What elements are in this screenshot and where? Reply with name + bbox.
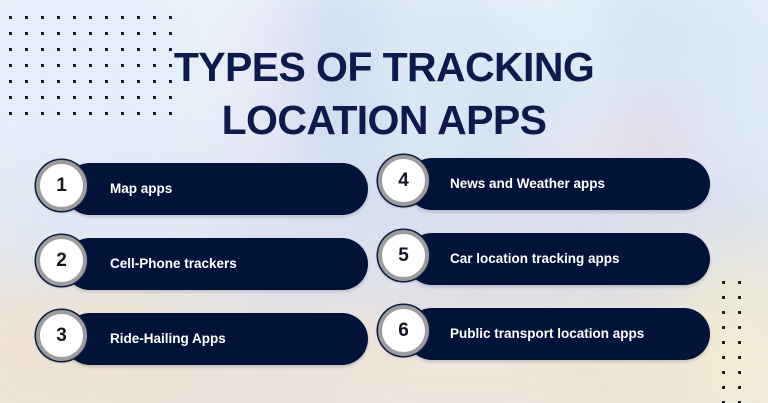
list-item-label: Car location tracking apps — [450, 233, 700, 285]
decorative-dot — [722, 281, 725, 284]
decorative-dot — [121, 32, 124, 35]
decorative-dot — [105, 32, 108, 35]
list-column-left: 1 Map apps 2 Cell-Phone trackers 3 Ride-… — [36, 163, 368, 365]
decorative-dot — [722, 386, 725, 389]
decorative-dot — [25, 32, 28, 35]
infographic-slide: TYPES OF TRACKING LOCATION APPS 1 Map ap… — [0, 0, 768, 403]
list-item[interactable]: 4 News and Weather apps — [378, 158, 710, 210]
list-item-label: News and Weather apps — [450, 158, 700, 210]
page-title: TYPES OF TRACKING LOCATION APPS — [0, 41, 768, 146]
decorative-dot — [169, 16, 172, 19]
decorative-dot — [153, 32, 156, 35]
decorative-dot-grid-bottom-right — [722, 281, 754, 403]
decorative-dot — [57, 16, 60, 19]
decorative-dot — [121, 16, 124, 19]
decorative-dot — [57, 32, 60, 35]
decorative-dot — [738, 326, 741, 329]
decorative-dot — [722, 296, 725, 299]
decorative-dot — [9, 16, 12, 19]
decorative-dot — [738, 341, 741, 344]
decorative-dot — [137, 32, 140, 35]
decorative-dot — [169, 32, 172, 35]
list-item[interactable]: 5 Car location tracking apps — [378, 233, 710, 285]
list-item-number-badge: 3 — [36, 310, 87, 361]
decorative-dot — [738, 296, 741, 299]
decorative-dot — [25, 16, 28, 19]
decorative-dot — [105, 16, 108, 19]
decorative-dot — [738, 311, 741, 314]
decorative-dot — [73, 16, 76, 19]
list-item-label: Map apps — [110, 163, 340, 215]
decorative-dot — [73, 32, 76, 35]
decorative-dot — [9, 32, 12, 35]
decorative-dot — [722, 326, 725, 329]
list-item-number-badge: 2 — [36, 235, 87, 286]
decorative-dot — [722, 356, 725, 359]
list-item[interactable]: 6 Public transport location apps — [378, 308, 710, 360]
decorative-dot — [722, 311, 725, 314]
decorative-dot — [738, 386, 741, 389]
decorative-dot — [137, 16, 140, 19]
list-item[interactable]: 2 Cell-Phone trackers — [36, 238, 368, 290]
list-item[interactable]: 3 Ride-Hailing Apps — [36, 313, 368, 365]
decorative-dot — [89, 32, 92, 35]
decorative-dot — [738, 281, 741, 284]
decorative-dot — [738, 356, 741, 359]
list-item-label: Public transport location apps — [450, 308, 700, 360]
decorative-dot — [722, 341, 725, 344]
decorative-dot — [153, 16, 156, 19]
decorative-dot — [41, 32, 44, 35]
list-item-number-badge: 1 — [36, 160, 87, 211]
decorative-dot — [41, 16, 44, 19]
decorative-dot — [89, 16, 92, 19]
list-item-number-badge: 4 — [378, 155, 429, 206]
list-item-number-badge: 6 — [378, 305, 429, 356]
list-item[interactable]: 1 Map apps — [36, 163, 368, 215]
list-item-number-badge: 5 — [378, 230, 429, 281]
page-title-line-1: TYPES OF TRACKING — [0, 41, 768, 93]
list-item-label: Ride-Hailing Apps — [110, 313, 340, 365]
list-item-label: Cell-Phone trackers — [110, 238, 340, 290]
page-title-line-2: LOCATION APPS — [0, 94, 768, 146]
list-column-right: 4 News and Weather apps 5 Car location t… — [378, 158, 710, 360]
decorative-dot — [738, 371, 741, 374]
decorative-dot — [722, 371, 725, 374]
